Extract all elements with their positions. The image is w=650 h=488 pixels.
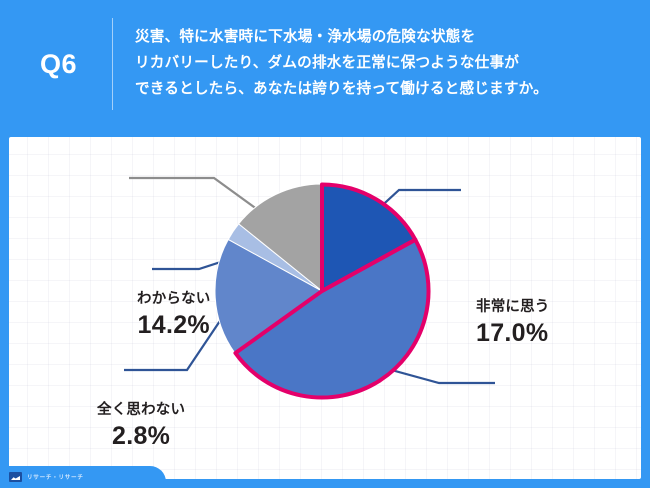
- callout-wakaranai: わからない 14.2%: [137, 292, 211, 340]
- header-divider: [112, 18, 113, 110]
- callout-percent-value: 14.2%: [137, 311, 211, 341]
- chart-panel: 非常に思う 17.0% やや思う 48.1% あまり思わない 17.9% 全く思…: [9, 137, 641, 479]
- question-text: 災害、特に水害時に下水場・浄水場の危険な状態を リカバリーしたり、ダムの排水を正…: [135, 25, 548, 103]
- question-number: Q6: [34, 49, 112, 80]
- callout-percent-value: 17.0%: [476, 319, 550, 349]
- brand-logo-text: リサーチ・リサーチ: [27, 473, 84, 481]
- slide-root: Q6 災害、特に水害時に下水場・浄水場の危険な状態を リカバリーしたり、ダムの排…: [0, 0, 650, 488]
- callout-percent-value: 2.8%: [97, 422, 185, 452]
- callout-mattaku-omowanai: 全く思わない 2.8%: [97, 403, 185, 451]
- callout-category-label: 非常に思う: [476, 300, 550, 316]
- callout-hijou-ni-omou: 非常に思う 17.0%: [476, 300, 550, 348]
- callout-category-label: わからない: [137, 292, 211, 308]
- callout-category-label: 全く思わない: [97, 403, 185, 419]
- footer-logo-tab: リサーチ・リサーチ: [0, 466, 166, 488]
- brand-logo-icon: [9, 472, 22, 482]
- question-header: Q6 災害、特に水害時に下水場・浄水場の危険な状態を リカバリーしたり、ダムの排…: [0, 0, 650, 128]
